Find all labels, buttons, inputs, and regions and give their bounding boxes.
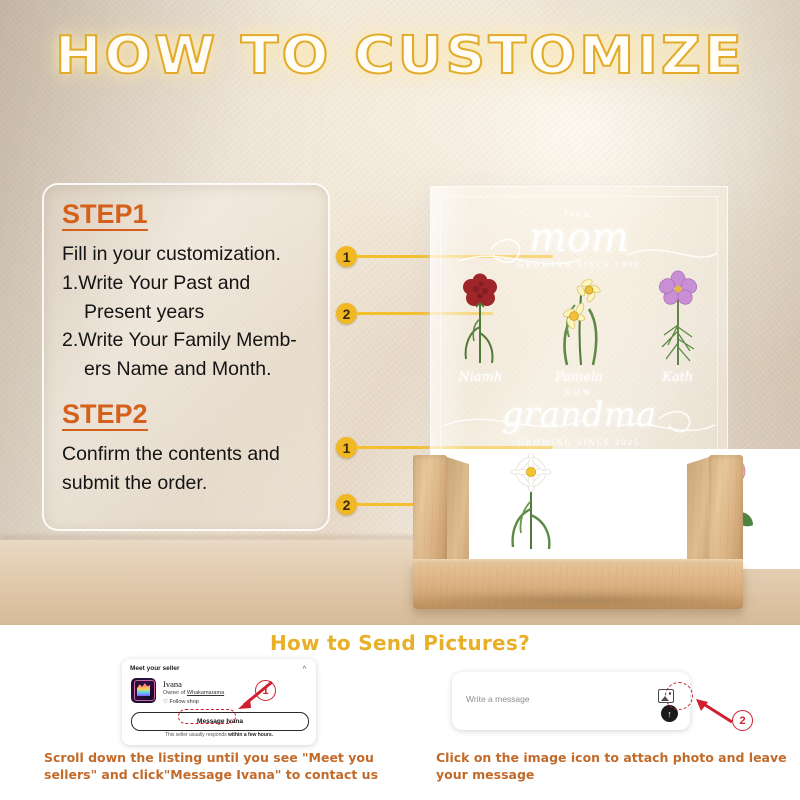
follow-shop-row[interactable]: ♡ Follow shop [163, 699, 199, 705]
callout-number-badge: 1 [336, 246, 357, 267]
stand-post-left-inner [447, 457, 469, 575]
follow-shop-label: Follow shop [169, 699, 198, 705]
callout-number-badge: 2 [336, 494, 357, 515]
marker-1-badge: 1 [255, 680, 276, 701]
marker-2-badge: 2 [732, 710, 753, 731]
stand-ground-shadow [398, 592, 760, 608]
seller-card-screenshot: Meet your seller ^ Ivana Owner of Whakam… [122, 659, 316, 745]
step1-line-1: Fill in your customization. [62, 241, 310, 269]
message-button-highlight-ellipse [178, 709, 236, 724]
flower-slot: Niamh [449, 265, 511, 385]
arrow-to-image-icon [688, 694, 736, 728]
response-bold: within a few hours. [228, 732, 273, 738]
flower-slot: Kath [647, 265, 709, 385]
how-to-send-title: How to Send Pictures? [0, 631, 800, 655]
page-root: HOW TO CUSTOMIZE STEP1 Fill in your cust… [0, 0, 800, 800]
caption-left: Scroll down the listing until you see "M… [44, 750, 424, 783]
grandma-subtitle: GROWING SINCE 2025 [431, 437, 727, 447]
wooden-stand-base [409, 455, 747, 595]
step1-line-5: ers Name and Month. [62, 356, 310, 384]
step1-line-2: 1.Write Your Past and [62, 270, 310, 298]
seller-response-time: This seller usually responds within a fe… [122, 732, 316, 738]
wood-grain [687, 457, 709, 575]
mom-title: mom [431, 215, 727, 261]
wood-grain [447, 457, 469, 575]
cosmos-purple-icon [650, 269, 706, 369]
step1-line-4: 2.Write Your Family Memb- [62, 327, 310, 355]
mom-flowers-row: Niamh [431, 265, 727, 385]
owner-of-prefix: Owner of [163, 690, 187, 696]
stand-post-right-outer [709, 455, 743, 575]
callout-number-badge: 1 [336, 437, 357, 458]
heart-icon: ♡ [163, 699, 168, 705]
step2-heading: STEP2 [62, 399, 148, 431]
caption-right: Click on the image icon to attach photo … [436, 750, 796, 783]
step2-line-2: submit the order. [62, 470, 310, 498]
shop-owner-line: Owner of Whakamarama [163, 690, 224, 696]
flower-slot: Pamela [548, 265, 610, 385]
wood-grain [413, 455, 447, 575]
stand-post-right-inner [687, 457, 709, 575]
shop-owner-name: Ivana [163, 679, 182, 689]
chevron-up-icon[interactable]: ^ [303, 666, 306, 673]
shop-avatar [131, 678, 156, 703]
step1-heading: STEP1 [62, 199, 148, 231]
page-title: HOW TO CUSTOMIZE [0, 26, 800, 86]
stand-post-left-outer [413, 455, 447, 575]
grandma-title: grandma [431, 395, 727, 435]
carnation-dark-red-icon [452, 269, 508, 369]
message-input-placeholder[interactable]: Write a message [466, 694, 530, 704]
steps-panel: STEP1 Fill in your customization. 1.Writ… [42, 183, 330, 531]
wood-grain [709, 455, 743, 575]
avatar-ring [134, 680, 155, 701]
shop-name-link[interactable]: Whakamarama [187, 690, 224, 696]
meet-your-seller-label: Meet your seller [130, 665, 180, 672]
message-box-screenshot: Write a message ↑ [452, 672, 690, 730]
daffodil-yellow-icon [551, 269, 607, 369]
step2-line-1: Confirm the contents and [62, 441, 310, 469]
callout-number-badge: 2 [336, 303, 357, 324]
step1-line-3: Present years [62, 299, 310, 327]
response-prefix: This seller usually responds [165, 732, 228, 738]
